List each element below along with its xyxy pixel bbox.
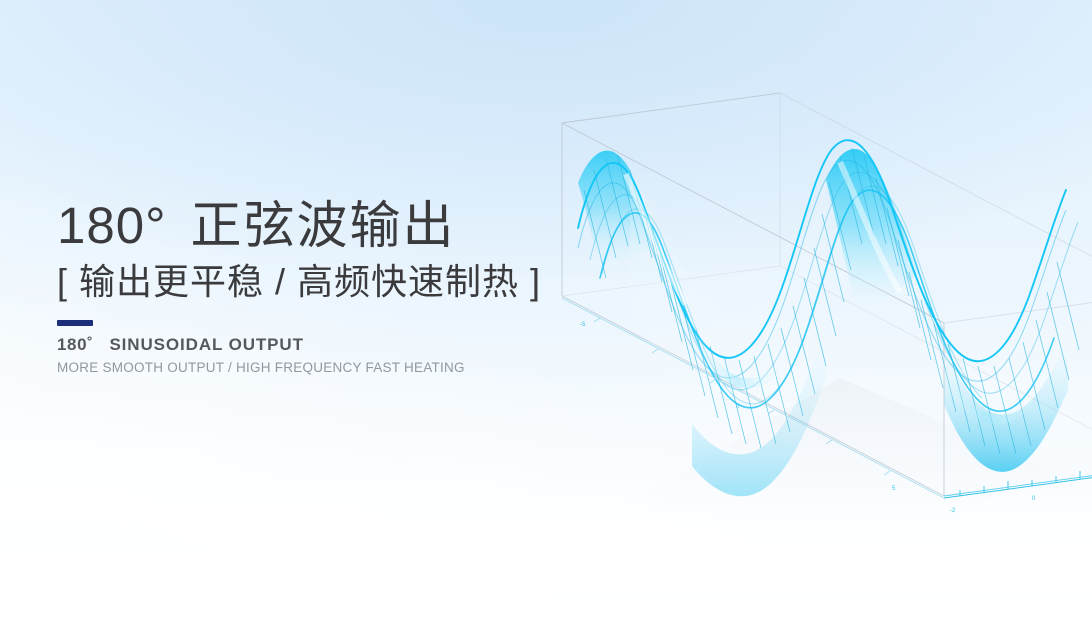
english-degrees: 180˚ xyxy=(57,335,93,354)
english-title: SINUSOIDAL OUTPUT xyxy=(109,335,303,354)
headline-block: 180°正弦波输出 [ 输出更平稳 / 高频快速制热 ] 180˚SINUSOI… xyxy=(57,196,541,376)
plot-svg: 1 0 -1 -2 0 2 xyxy=(540,78,1092,548)
promo-banner: 180°正弦波输出 [ 输出更平稳 / 高频快速制热 ] 180˚SINUSOI… xyxy=(0,0,1092,622)
axis-tick-y-0: 0 xyxy=(1032,496,1036,502)
headline-chinese: 正弦波输出 xyxy=(191,197,456,254)
accent-bar xyxy=(57,320,93,326)
headline-degrees: 180° xyxy=(57,197,167,254)
english-main-line: 180˚SINUSOIDAL OUTPUT xyxy=(57,335,541,355)
english-subtitle: MORE SMOOTH OUTPUT / HIGH FREQUENCY FAST… xyxy=(57,360,541,376)
axis-tick-y-neg2: -2 xyxy=(950,508,956,514)
page-title: 180°正弦波输出 xyxy=(57,196,541,256)
subtitle-chinese: [ 输出更平稳 / 高频快速制热 ] xyxy=(57,258,541,306)
axis-tick-x-neg5: -5 xyxy=(580,322,586,328)
sine-wave-3d-plot: 1 0 -1 -2 0 2 xyxy=(540,78,1092,548)
